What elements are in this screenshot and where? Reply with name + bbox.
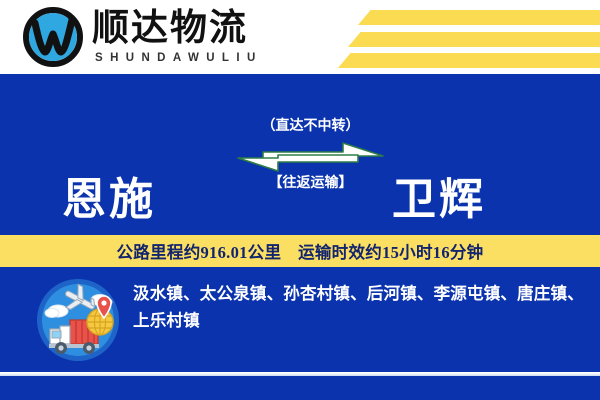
- destination-city: 卫辉: [392, 176, 486, 224]
- roundtrip-note: 【往返运输】: [233, 175, 388, 193]
- distance-duration-text: 公路里程约916.01公里 运输时效约15小时16分钟: [117, 239, 484, 263]
- brand-name-cn: 顺达物流: [92, 8, 263, 50]
- origin-city: 恩施: [62, 176, 156, 224]
- yellow-slant-stripes: [300, 0, 600, 74]
- logistics-truck-plane-globe-icon: [36, 278, 120, 362]
- poster-header: 顺达物流 SHUNDAWULIU: [0, 0, 600, 74]
- stripe-1: [358, 10, 600, 25]
- direct-note: （直达不中转）: [233, 118, 388, 136]
- bidirectional-arrow-icon: [233, 139, 388, 173]
- circular-w-emblem-icon: [22, 6, 84, 68]
- covered-towns-text: 汲水镇、太公泉镇、孙杏村镇、后河镇、李源屯镇、唐庄镇、上乐村镇: [133, 280, 585, 334]
- stripe-3: [338, 53, 600, 68]
- brand-name-en: SHUNDAWULIU: [95, 51, 263, 66]
- coverage-band: 汲水镇、太公泉镇、孙杏村镇、后河镇、李源屯镇、唐庄镇、上乐村镇: [0, 267, 600, 373]
- route-arrow-block: （直达不中转） 【往返运输】: [233, 118, 388, 193]
- brand-text: 顺达物流 SHUNDAWULIU: [92, 8, 263, 66]
- poster-footer: [0, 376, 600, 400]
- brand-logo: 顺达物流 SHUNDAWULIU: [22, 6, 263, 68]
- logistics-route-poster: 顺达物流 SHUNDAWULIU 恩施 （直达不中转） 【往返运输】: [0, 0, 600, 400]
- distance-duration-bar: 公路里程约916.01公里 运输时效约15小时16分钟: [0, 235, 600, 267]
- route-band: 恩施 （直达不中转） 【往返运输】 卫辉: [0, 74, 600, 235]
- stripe-2: [348, 32, 600, 47]
